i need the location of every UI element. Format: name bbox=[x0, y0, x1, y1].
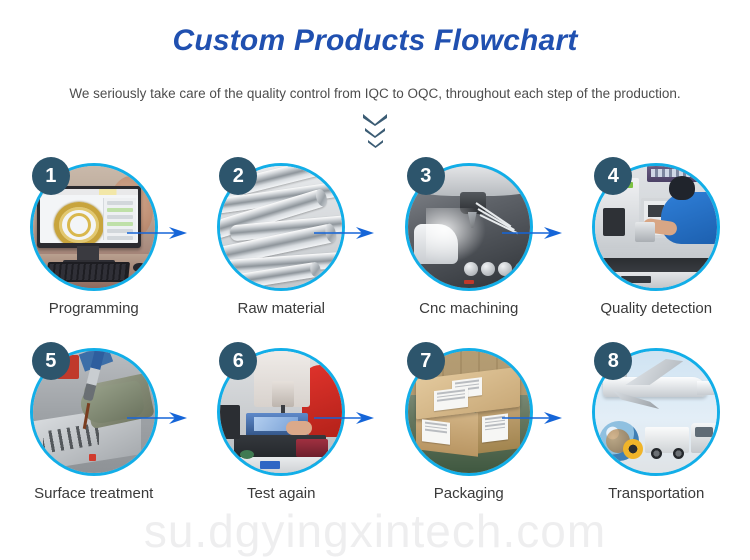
flow-step-6[interactable]: 6 Test again bbox=[188, 348, 376, 523]
step-8-number-badge: 8 bbox=[594, 342, 632, 380]
step-7-label: Packaging bbox=[434, 485, 504, 502]
flow-step-7[interactable]: 7 Packaging bbox=[375, 348, 563, 523]
step-2-circle-wrap: 2 bbox=[217, 163, 345, 291]
flow-step-4[interactable]: 4 Quality detection bbox=[563, 163, 750, 338]
arrow-right-icon bbox=[502, 227, 564, 239]
chevron-down-icon bbox=[367, 139, 384, 148]
step-4-label: Quality detection bbox=[600, 300, 712, 317]
flow-row-1: 1 Programming bbox=[0, 163, 750, 338]
flow-step-1[interactable]: 1 Programming bbox=[0, 163, 188, 338]
step-4-number-badge: 4 bbox=[594, 157, 632, 195]
arrow-right-icon bbox=[314, 227, 376, 239]
flow-step-3[interactable]: 3 Cnc machining bbox=[375, 163, 563, 338]
flowchart-page: Custom Products Flowchart We seriously t… bbox=[0, 0, 750, 560]
step-1-number-badge: 1 bbox=[32, 157, 70, 195]
flow-step-8[interactable]: 8 Transportation bbox=[563, 348, 750, 523]
chevron-down-icon bbox=[362, 113, 388, 126]
arrow-right-icon bbox=[127, 227, 189, 239]
step-4-circle-wrap: 4 bbox=[592, 163, 720, 291]
step-5-number-badge: 5 bbox=[32, 342, 70, 380]
step-3-circle-wrap: 3 bbox=[405, 163, 533, 291]
step-3-number-badge: 3 bbox=[407, 157, 445, 195]
step-2-number-badge: 2 bbox=[219, 157, 257, 195]
step-8-circle-wrap: 8 bbox=[592, 348, 720, 476]
step-5-circle-wrap: 5 bbox=[30, 348, 158, 476]
flow-step-5[interactable]: 5 Surface treatment bbox=[0, 348, 188, 523]
chevron-stack bbox=[0, 113, 750, 148]
step-1-label: Programming bbox=[49, 300, 139, 317]
arrow-right-icon bbox=[127, 412, 189, 424]
step-6-label: Test again bbox=[247, 485, 315, 502]
flow-row-2: 5 Surface treatment bbox=[0, 348, 750, 523]
arrow-right-icon bbox=[314, 412, 376, 424]
step-7-circle-wrap: 7 bbox=[405, 348, 533, 476]
step-6-circle-wrap: 6 bbox=[217, 348, 345, 476]
step-2-label: Raw material bbox=[237, 300, 325, 317]
step-5-label: Surface treatment bbox=[34, 485, 153, 502]
step-8-label: Transportation bbox=[608, 485, 704, 502]
step-7-number-badge: 7 bbox=[407, 342, 445, 380]
step-1-circle-wrap: 1 bbox=[30, 163, 158, 291]
flow-step-2[interactable]: 2 Raw material bbox=[188, 163, 376, 338]
page-subtitle: We seriously take care of the quality co… bbox=[0, 86, 750, 101]
arrow-right-icon bbox=[502, 412, 564, 424]
step-6-number-badge: 6 bbox=[219, 342, 257, 380]
step-3-label: Cnc machining bbox=[419, 300, 518, 317]
chevron-down-icon bbox=[364, 127, 386, 138]
page-title: Custom Products Flowchart bbox=[0, 24, 750, 58]
